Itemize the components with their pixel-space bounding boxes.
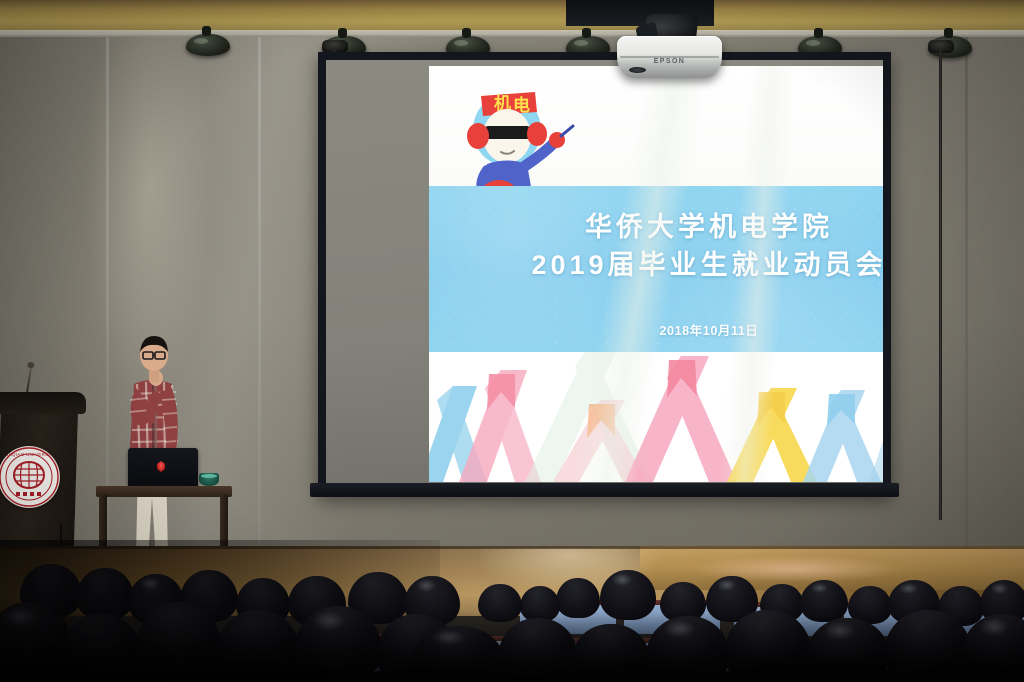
screen-border: [318, 52, 891, 495]
hanging-cable: [939, 50, 942, 520]
screen-bottom-casing: [310, 483, 899, 497]
projector-brand-label: EPSON: [617, 58, 722, 65]
ceiling-projector: EPSON: [617, 36, 722, 78]
audience-bottom-shadow: [0, 612, 1024, 682]
laptop[interactable]: [128, 448, 198, 488]
projection-screen: 机 电: [318, 52, 891, 495]
wall-seam: [106, 34, 109, 546]
svg-text:HUAQIAO UNIVERSITY: HUAQIAO UNIVERSITY: [1, 452, 56, 457]
stage-light-rail: [0, 33, 1024, 37]
auditorium-photo: 机 电: [0, 0, 1024, 682]
university-emblem: HUAQIAO UNIVERSITY: [0, 446, 60, 508]
projector-lens: [629, 67, 646, 73]
stage-light-icon: [186, 34, 230, 56]
table-top: [96, 486, 232, 497]
ceiling-band: [0, 0, 1024, 34]
teal-cup: [199, 473, 219, 486]
laptop-logo-icon: [157, 461, 165, 472]
wall-seam: [965, 34, 968, 546]
podium-desktop: [0, 392, 86, 414]
audience-area: [0, 540, 1024, 682]
wall-seam: [258, 34, 261, 546]
